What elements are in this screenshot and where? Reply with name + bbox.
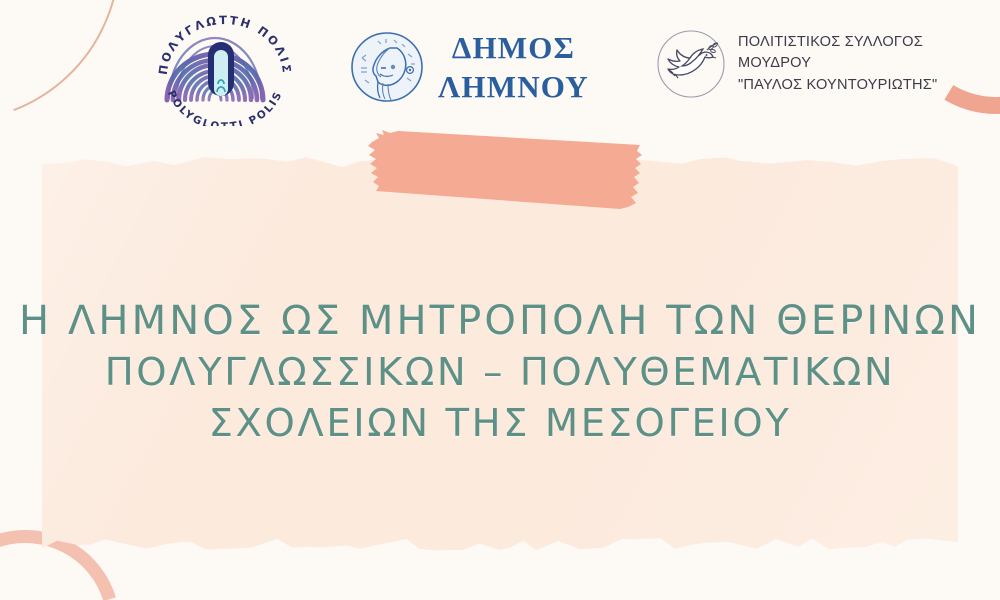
washi-tape <box>368 129 644 211</box>
poster-title: Η ΛΗΜΝΟΣ ΩΣ ΜΗΤΡΟΠΟΛΗ ΤΩΝ ΘΕΡΙΝΩΝ ΠΟΛΥΓΛ… <box>0 296 1000 449</box>
title-line-3: ΣΧΟΛΕΙΩΝ ΤΗΣ ΜΕΣΟΓΕΙΟΥ <box>0 398 1000 449</box>
title-line-2: ΠΟΛΥΓΛΩΣΣΙΚΩΝ – ΠΟΛΥΘΕΜΑΤΙΚΩΝ <box>0 347 1000 398</box>
title-line-1: Η ΛΗΜΝΟΣ ΩΣ ΜΗΤΡΟΠΟΛΗ ΤΩΝ ΘΕΡΙΝΩΝ <box>0 296 1000 347</box>
ancient-coin-icon <box>348 28 426 106</box>
dimos-line-2: ΛΗΜΝΟΥ <box>438 67 589 106</box>
dove-icon <box>655 28 727 100</box>
logo-dimos-limnou: ΔΗΜΟΣ ΛΗΜΝΟΥ <box>348 28 589 106</box>
logo-row: ΠΟΛΥΓΛΩΤΤΗ ΠΟΛΙΣ POLYGLOTTI POLIS <box>0 0 1000 132</box>
syllogos-line-1: ΠΟΛΙΤΙΣΤΙΚΟΣ ΣΥΛΛΟΓΟΣ <box>738 32 937 53</box>
dimos-line-1: ΔΗΜΟΣ <box>438 28 589 67</box>
syllogos-text: ΠΟΛΙΤΙΣΤΙΚΟΣ ΣΥΛΛΟΓΟΣ ΜΟΥΔΡΟΥ "ΠΑΥΛΟΣ ΚΟ… <box>738 32 937 95</box>
logo-polyglotti-polis: ΠΟΛΥΓΛΩΤΤΗ ΠΟΛΙΣ POLYGLOTTI POLIS <box>145 14 305 126</box>
poster-canvas: ΠΟΛΥΓΛΩΤΤΗ ΠΟΛΙΣ POLYGLOTTI POLIS <box>0 0 1000 600</box>
syllogos-line-3: "ΠΑΥΛΟΣ ΚΟΥΝΤΟΥΡΙΩΤΗΣ" <box>738 75 937 96</box>
dimos-limnou-text: ΔΗΜΟΣ ΛΗΜΝΟΥ <box>438 28 589 106</box>
syllogos-line-2: ΜΟΥΔΡΟΥ <box>738 53 937 74</box>
logo-politistikos-syllogos: ΠΟΛΙΤΙΣΤΙΚΟΣ ΣΥΛΛΟΓΟΣ ΜΟΥΔΡΟΥ "ΠΑΥΛΟΣ ΚΟ… <box>655 28 937 100</box>
